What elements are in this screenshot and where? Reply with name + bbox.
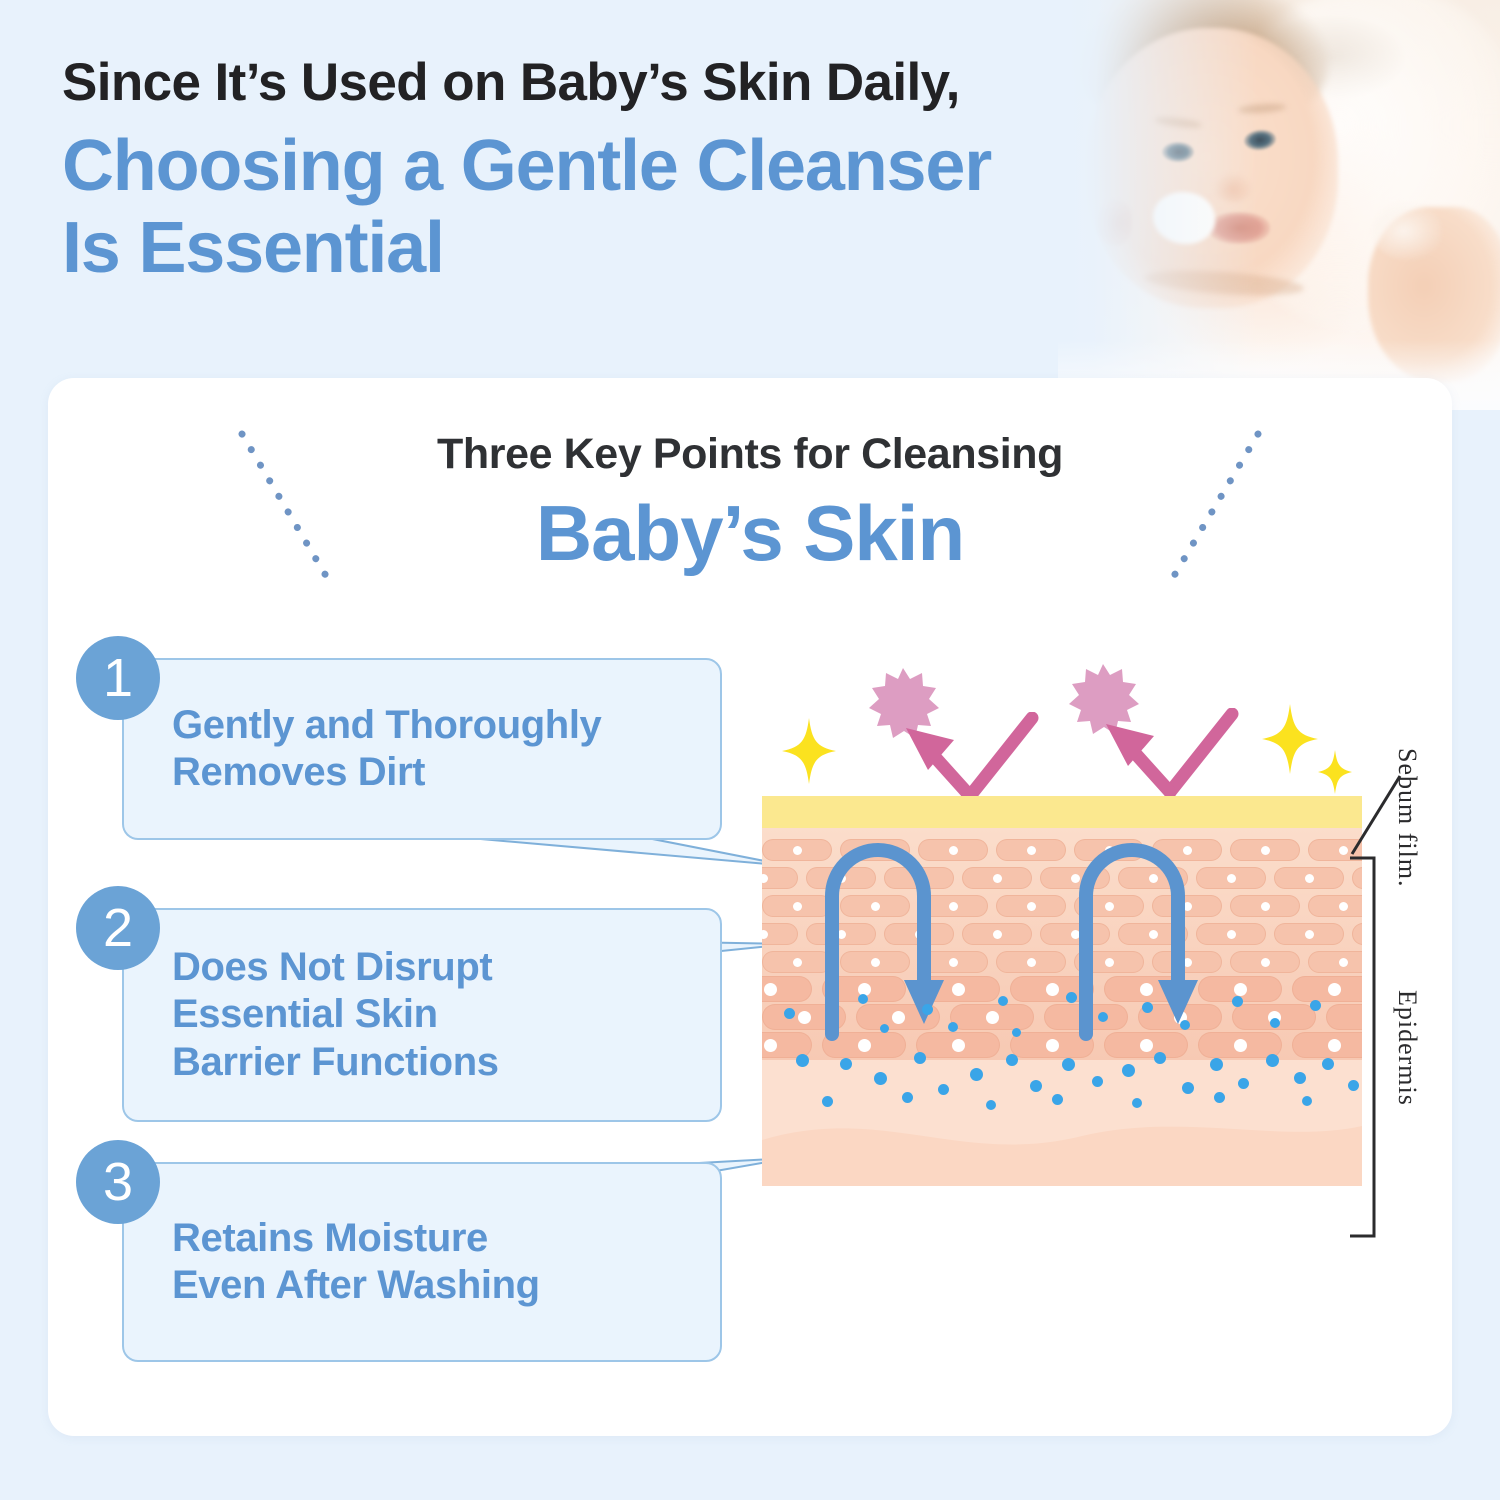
moisture-droplet [1006, 1054, 1018, 1066]
card-subtitle-block: Three Key Points for Cleansing Baby’s Sk… [48, 430, 1452, 575]
moisture-droplet [1182, 1082, 1194, 1094]
cell-nucleus [1305, 874, 1314, 883]
moisture-droplet [1122, 1064, 1135, 1077]
subtitle-large: Baby’s Skin [48, 493, 1452, 575]
epidermis-cell [996, 839, 1066, 861]
moisture-droplet [1294, 1072, 1306, 1084]
moisture-droplet [1066, 992, 1077, 1003]
cleansing-u-arrow-icon [1072, 834, 1208, 1042]
key-point-3[interactable]: Retains Moisture Even After Washing 3 [76, 1140, 736, 1370]
cell-nucleus [1227, 874, 1236, 883]
moisture-droplet [938, 1084, 949, 1095]
moisture-droplet [1052, 1094, 1063, 1105]
moisture-droplet [796, 1054, 809, 1067]
epidermis-cell [1230, 951, 1300, 973]
key-point-3-number: 3 [76, 1140, 160, 1224]
moisture-droplet [1322, 1058, 1334, 1070]
epidermis-cell [962, 923, 1032, 945]
epidermis-cell [762, 976, 812, 1002]
cell-nucleus [1027, 902, 1036, 911]
repelled-arrow-icon [894, 712, 1040, 804]
moisture-droplet [1232, 996, 1243, 1007]
moisture-droplet [970, 1068, 983, 1081]
moisture-droplet [1302, 1096, 1312, 1106]
moisture-droplet [858, 994, 868, 1004]
cell-nucleus [1046, 1039, 1059, 1052]
key-point-2-number: 2 [76, 886, 160, 970]
moisture-droplet [1132, 1098, 1142, 1108]
moisture-droplet [1154, 1052, 1166, 1064]
key-point-1-number: 1 [76, 636, 160, 720]
epidermis-cell [1230, 839, 1300, 861]
epidermis-cell [1230, 895, 1300, 917]
moisture-droplet [1062, 1058, 1075, 1071]
cell-nucleus [1261, 958, 1270, 967]
content-card: Three Key Points for Cleansing Baby’s Sk… [48, 378, 1452, 1436]
moisture-droplet [1310, 1000, 1321, 1011]
cell-nucleus [798, 1011, 811, 1024]
moisture-droplet [1210, 1058, 1223, 1071]
cell-nucleus [762, 930, 768, 939]
subtitle-small: Three Key Points for Cleansing [48, 430, 1452, 479]
moisture-droplet [948, 1022, 958, 1032]
moisture-droplet [840, 1058, 852, 1070]
sparkle-icon [782, 718, 836, 784]
cell-nucleus [1234, 1039, 1247, 1052]
label-epidermis: Epidermis [1392, 990, 1422, 1106]
cell-nucleus [793, 958, 802, 967]
epidermis-cell [762, 867, 798, 889]
cell-nucleus [986, 1011, 999, 1024]
moisture-droplet [1030, 1080, 1042, 1092]
headline-line-1: Since It’s Used on Baby’s Skin Daily, [62, 54, 1072, 111]
moisture-droplet [1214, 1092, 1225, 1103]
baby-photo [1058, 0, 1500, 410]
key-point-2-box[interactable]: Does Not Disrupt Essential Skin Barrier … [122, 908, 722, 1122]
skin-layers [762, 796, 1362, 1186]
repelled-arrow-icon [1094, 708, 1240, 800]
cell-nucleus [762, 874, 768, 883]
epidermis-cell [1274, 867, 1344, 889]
cell-nucleus [1328, 983, 1341, 996]
moisture-droplet [1012, 1028, 1021, 1037]
caregiver-finger [1372, 202, 1442, 260]
cell-nucleus [793, 902, 802, 911]
cell-nucleus [764, 983, 777, 996]
cell-nucleus [1234, 983, 1247, 996]
moisture-droplet [880, 1024, 889, 1033]
cell-nucleus [793, 846, 802, 855]
moisture-droplet [902, 1092, 913, 1103]
key-point-1-box[interactable]: Gently and Thoroughly Removes Dirt [122, 658, 722, 840]
epidermis-cell [962, 867, 1032, 889]
epidermis-cell [1274, 923, 1344, 945]
cell-nucleus [1027, 958, 1036, 967]
dermis-wave [762, 1096, 1362, 1186]
key-point-1[interactable]: Gently and Thoroughly Removes Dirt 1 [76, 636, 736, 844]
moisture-droplet [922, 1004, 933, 1015]
sebum-film-layer [762, 796, 1362, 828]
moisture-droplet [1180, 1020, 1190, 1030]
sparkle-icon [1262, 704, 1318, 774]
moisture-droplet [998, 996, 1008, 1006]
cell-nucleus [1227, 930, 1236, 939]
diagram-labels: Sebum film. Epidermis [1366, 748, 1452, 1268]
cell-nucleus [993, 930, 1002, 939]
epidermis-cell [950, 1004, 1034, 1030]
sparkle-icon-small [1318, 750, 1352, 794]
cell-nucleus [1339, 958, 1348, 967]
headline-line-2: Choosing a Gentle Cleanser [62, 125, 1072, 207]
cell-nucleus [1027, 846, 1036, 855]
key-point-2[interactable]: Does Not Disrupt Essential Skin Barrier … [76, 886, 736, 1124]
cell-nucleus [1305, 930, 1314, 939]
moisture-droplet [1238, 1078, 1249, 1089]
cell-nucleus [1046, 983, 1059, 996]
moisture-droplet [1142, 1002, 1153, 1013]
cleansing-u-arrow-icon [818, 834, 954, 1042]
epidermis-cell [996, 951, 1066, 973]
moisture-droplet [1270, 1018, 1280, 1028]
cell-nucleus [1261, 846, 1270, 855]
cell-nucleus [1328, 1039, 1341, 1052]
epidermis-bracket [1348, 856, 1392, 1238]
headline-line-3: Is Essential [62, 207, 1072, 289]
cell-nucleus [1261, 902, 1270, 911]
headline-block: Since It’s Used on Baby’s Skin Daily, Ch… [62, 54, 1072, 289]
moisture-droplet [784, 1008, 795, 1019]
cell-nucleus [993, 874, 1002, 883]
moisture-droplet [1092, 1076, 1103, 1087]
moisture-droplet [822, 1096, 833, 1107]
skin-cross-section-diagram [762, 664, 1362, 1264]
moisture-droplet [1266, 1054, 1279, 1067]
moisture-droplet [874, 1072, 887, 1085]
key-point-2-text: Does Not Disrupt Essential Skin Barrier … [124, 944, 519, 1086]
moisture-droplet [914, 1052, 926, 1064]
key-point-3-text: Retains Moisture Even After Washing [124, 1215, 560, 1309]
label-sebum-film: Sebum film. [1392, 748, 1422, 888]
moisture-droplet [1098, 1012, 1108, 1022]
epidermis-cell [996, 895, 1066, 917]
moisture-droplet [986, 1100, 996, 1110]
key-point-3-box[interactable]: Retains Moisture Even After Washing [122, 1162, 722, 1362]
key-point-1-text: Gently and Thoroughly Removes Dirt [124, 702, 621, 796]
cell-nucleus [764, 1039, 777, 1052]
cell-nucleus [1339, 846, 1348, 855]
cell-nucleus [1339, 902, 1348, 911]
epidermis-cell [762, 923, 798, 945]
header-section: Since It’s Used on Baby’s Skin Daily, Ch… [0, 0, 1500, 378]
